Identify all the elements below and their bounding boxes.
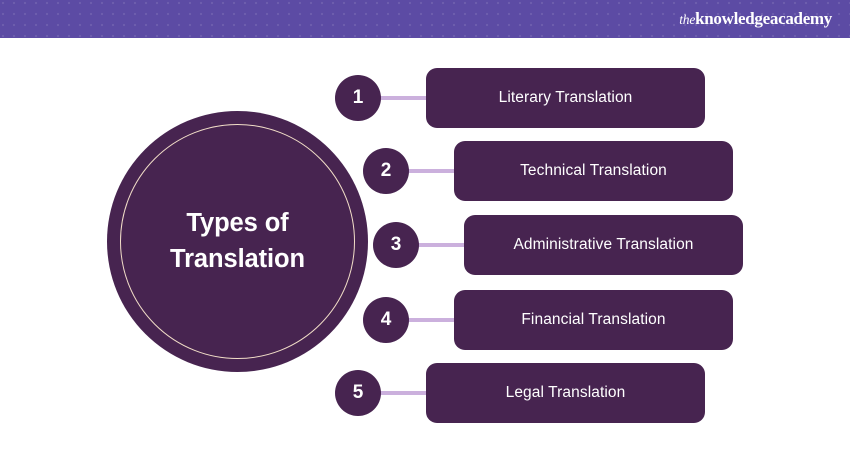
central-circle-title-line-2: Translation [170,245,305,273]
row-number-badge: 1 [335,75,381,121]
header-bar: theknowledgeacademy [0,0,850,38]
row-connector-line [417,243,466,247]
brand-logo-prefix: the [679,12,695,27]
central-circle-title: Types of Translation [138,206,338,276]
row-number-badge: 4 [363,297,409,343]
type-row: 1 Literary Translation [335,68,705,128]
row-connector-line [379,391,428,395]
row-number-badge: 5 [335,370,381,416]
row-label-box[interactable]: Technical Translation [454,141,733,201]
diagram-canvas: Types of Translation 1 Literary Translat… [0,38,850,450]
type-row: 4 Financial Translation [363,290,733,350]
type-row: 2 Technical Translation [363,141,733,201]
row-label-box[interactable]: Administrative Translation [464,215,743,275]
row-connector-line [379,96,428,100]
brand-logo-word-one: knowledge [695,9,770,28]
central-circle: Types of Translation [107,111,368,372]
row-label-box[interactable]: Financial Translation [454,290,733,350]
row-label-box[interactable]: Literary Translation [426,68,705,128]
type-row: 3 Administrative Translation [373,215,743,275]
row-number-badge: 2 [363,148,409,194]
row-connector-line [407,169,456,173]
row-label-box[interactable]: Legal Translation [426,363,705,423]
brand-logo-word-two: academy [770,9,832,28]
brand-logo: theknowledgeacademy [679,10,832,28]
type-row: 5 Legal Translation [335,363,705,423]
row-number-badge: 3 [373,222,419,268]
central-circle-title-line-1: Types of [186,209,288,237]
row-connector-line [407,318,456,322]
